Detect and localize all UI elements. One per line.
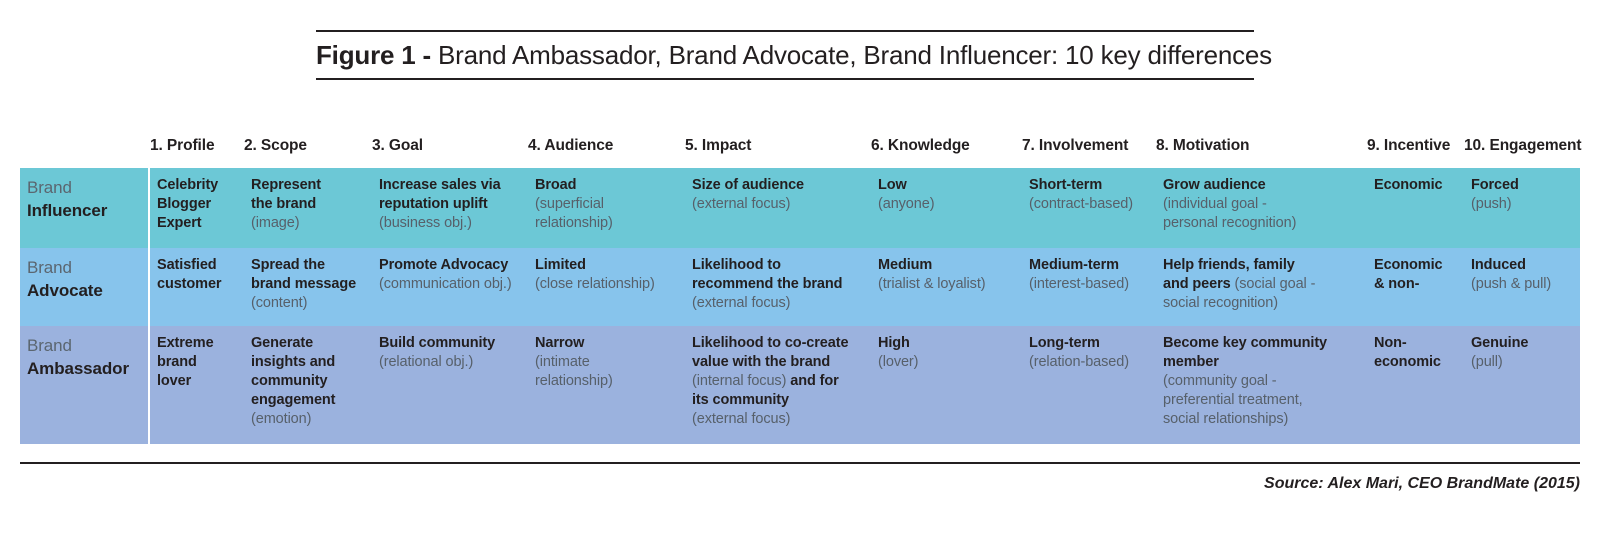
cell-secondary-text: (trialist & loyalist): [878, 276, 985, 292]
figure-title-block: Figure 1 - Brand Ambassador, Brand Advoc…: [316, 30, 1254, 80]
cell-primary-text: Broad: [535, 177, 576, 193]
cell-primary-text: Spread thebrand message: [251, 257, 356, 292]
cell-secondary-text: (relational obj.): [379, 354, 473, 370]
table-cell: Genuine(pull): [1464, 326, 1580, 444]
cell-primary-text: Induced: [1471, 257, 1526, 273]
cell-secondary-text: (contract-based): [1029, 196, 1133, 212]
table-cell: Medium-term(interest-based): [1022, 248, 1156, 326]
cell-primary-text: Economic: [1374, 177, 1443, 193]
table-cell: Extremebrandlover: [150, 326, 245, 444]
cell-primary-text: Medium: [878, 257, 932, 273]
column-header-9: 9. Incentive: [1367, 137, 1450, 155]
table-cell: Low(anyone): [871, 168, 1022, 248]
table-cell: Build community(relational obj.): [372, 326, 528, 444]
cell-secondary-text: (communication obj.): [379, 276, 512, 292]
table-cell: Size of audience(external focus): [685, 168, 871, 248]
cell-secondary-text: (relation-based): [1029, 354, 1129, 370]
table-cell: CelebrityBloggerExpert: [150, 168, 245, 248]
cell-primary-text: Satisfiedcustomer: [157, 257, 221, 292]
cell-primary-text: Short-term: [1029, 177, 1102, 193]
cell-secondary-text: (external focus): [692, 295, 790, 311]
cell-primary-text: Low: [878, 177, 907, 193]
row-header-name: Ambassador: [27, 359, 129, 378]
table-cell: Forced(push): [1464, 168, 1580, 248]
cell-secondary-text: (close relationship): [535, 276, 655, 292]
table-cell: Economic: [1367, 168, 1464, 248]
cell-primary-text: Medium-term: [1029, 257, 1119, 273]
table-cell: High(lover): [871, 326, 1022, 444]
cell-secondary-text: (emotion): [251, 411, 311, 427]
column-header-5: 5. Impact: [685, 137, 751, 155]
table-row: BrandAdvocateSatisfiedcustomerSpread the…: [20, 248, 1580, 326]
table-cell: Increase sales viareputation uplift(busi…: [372, 168, 528, 248]
cell-secondary-text: (content): [251, 295, 307, 311]
cell-primary-text: Long-term: [1029, 335, 1100, 351]
table-row: BrandInfluencerCelebrityBloggerExpertRep…: [20, 168, 1580, 248]
row-header-advocate: BrandAdvocate: [20, 248, 148, 326]
cell-primary-text: Non-economic: [1374, 335, 1441, 370]
column-header-2: 2. Scope: [244, 137, 307, 155]
column-header-6: 6. Knowledge: [871, 137, 970, 155]
cell-secondary-text: (interest-based): [1029, 276, 1129, 292]
cell-primary-text: Forced: [1471, 177, 1519, 193]
cell-secondary-text: (external focus): [692, 196, 790, 212]
table-cell: Induced(push & pull): [1464, 248, 1580, 326]
column-header-10: 10. Engagement: [1464, 137, 1581, 155]
table-cell: Non-economic: [1367, 326, 1464, 444]
comparison-table: BrandInfluencerCelebrityBloggerExpertRep…: [20, 168, 1580, 444]
footer-rule: [20, 462, 1580, 464]
cell-secondary-text: (anyone): [878, 196, 934, 212]
table-cell: Broad(superficialrelationship): [528, 168, 685, 248]
row-header-influencer: BrandInfluencer: [20, 168, 148, 248]
row-header-ambassador: BrandAmbassador: [20, 326, 148, 444]
column-header-7: 7. Involvement: [1022, 137, 1128, 155]
cell-primary-text: Genuine: [1471, 335, 1528, 351]
cell-secondary-text-2: (external focus): [692, 411, 790, 427]
cell-primary-text: Extremebrandlover: [157, 335, 214, 389]
table-cell: Generateinsights andcommunityengagement(…: [244, 326, 372, 444]
cell-secondary-text: (superficialrelationship): [535, 196, 613, 231]
cell-primary-text: Become key communitymember: [1163, 335, 1327, 370]
table-column-headers: 1. Profile2. Scope3. Goal4. Audience5. I…: [20, 137, 1580, 161]
cell-secondary-text: (individual goal -personal recognition): [1163, 196, 1296, 231]
cell-primary-text: Likelihood to co-createvalue with the br…: [692, 335, 848, 370]
table-cell: Likelihood torecommend the brand(externa…: [685, 248, 871, 326]
table-row: BrandAmbassadorExtremebrandloverGenerate…: [20, 326, 1580, 444]
cell-primary-text: Narrow: [535, 335, 584, 351]
cell-secondary-text: (intimaterelationship): [535, 354, 613, 389]
row-header-prefix: Brand: [27, 258, 72, 277]
column-header-1: 1. Profile: [150, 137, 214, 155]
cell-secondary-text: (push): [1471, 196, 1512, 212]
cell-primary-text: Likelihood torecommend the brand: [692, 257, 842, 292]
cell-primary-text: Limited: [535, 257, 586, 273]
cell-primary-text: Size of audience: [692, 177, 804, 193]
cell-secondary-text: (push & pull): [1471, 276, 1551, 292]
cell-primary-text: Representthe brand: [251, 177, 321, 212]
table-cell: Likelihood to co-createvalue with the br…: [685, 326, 871, 444]
cell-primary-text: High: [878, 335, 910, 351]
table-cell: Medium(trialist & loyalist): [871, 248, 1022, 326]
row-header-name: Influencer: [27, 201, 107, 220]
cell-primary-text: CelebrityBloggerExpert: [157, 177, 218, 231]
cell-primary-text: Grow audience: [1163, 177, 1266, 193]
table-cell: Narrow(intimaterelationship): [528, 326, 685, 444]
cell-secondary-text: (internal focus): [692, 373, 786, 389]
source-credit: Source: Alex Mari, CEO BrandMate (2015): [1264, 475, 1580, 493]
table-cell: Short-term(contract-based): [1022, 168, 1156, 248]
column-header-3: 3. Goal: [372, 137, 423, 155]
row-header-prefix: Brand: [27, 178, 72, 197]
row-header-name: Advocate: [27, 281, 103, 300]
cell-primary-text: Increase sales viareputation uplift: [379, 177, 501, 212]
figure-container: Figure 1 - Brand Ambassador, Brand Advoc…: [0, 0, 1600, 537]
cell-secondary-text: (community goal -preferential treatment,…: [1163, 373, 1303, 427]
table-cell: Promote Advocacy(communication obj.): [372, 248, 528, 326]
cell-primary-text: Promote Advocacy: [379, 257, 508, 273]
cell-secondary-text: (lover): [878, 354, 918, 370]
cell-secondary-text: (image): [251, 215, 299, 231]
table-cell: Satisfiedcustomer: [150, 248, 245, 326]
table-cell: Spread thebrand message(content): [244, 248, 372, 326]
table-cell: Long-term(relation-based): [1022, 326, 1156, 444]
figure-label: Figure 1 -: [316, 40, 431, 70]
cell-primary-text: Build community: [379, 335, 495, 351]
table-cell: Representthe brand(image): [244, 168, 372, 248]
column-header-8: 8. Motivation: [1156, 137, 1249, 155]
table-cell: Limited(close relationship): [528, 248, 685, 326]
cell-secondary-text: (business obj.): [379, 215, 472, 231]
column-header-4: 4. Audience: [528, 137, 613, 155]
cell-primary-text: Economic& non-: [1374, 257, 1443, 292]
row-header-prefix: Brand: [27, 336, 72, 355]
cell-secondary-text: (pull): [1471, 354, 1503, 370]
cell-primary-text: Generateinsights andcommunityengagement: [251, 335, 335, 408]
table-cell: Economic& non-: [1367, 248, 1464, 326]
table-cell: Help friends, familyand peers (social go…: [1156, 248, 1367, 326]
table-cell: Grow audience(individual goal -personal …: [1156, 168, 1367, 248]
title-rule-bottom: [316, 78, 1254, 80]
page-title: Figure 1 - Brand Ambassador, Brand Advoc…: [316, 32, 1254, 78]
table-cell: Become key communitymember(community goa…: [1156, 326, 1367, 444]
figure-title-text: Brand Ambassador, Brand Advocate, Brand …: [431, 40, 1272, 70]
